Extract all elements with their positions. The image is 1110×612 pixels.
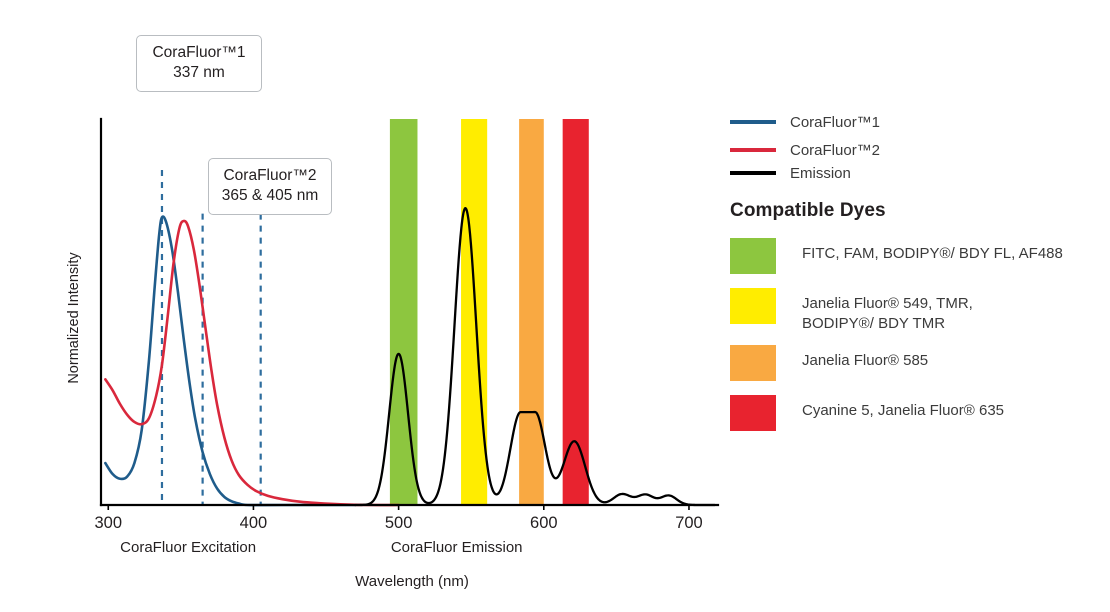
dye-item-red: Cyanine 5, Janelia Fluor® 635 xyxy=(730,395,1004,431)
dye-item-yellow: Janelia Fluor® 549, TMR, BODIPY®/ BDY TM… xyxy=(730,288,973,335)
axis-sub-label-0: CoraFluor Excitation xyxy=(120,539,256,556)
dye-label-red: Cyanine 5, Janelia Fluor® 635 xyxy=(802,395,1004,421)
dye-band-yellow-band xyxy=(461,119,487,505)
legend-line-swatch-corafluor1 xyxy=(730,120,776,124)
x-axis-title: Wavelength (nm) xyxy=(355,573,469,590)
legend-panel: CoraFluor™1 CoraFluor™2 Emission Compati… xyxy=(729,0,1110,612)
dye-band-orange-band xyxy=(519,119,544,505)
excitation-curve-CoraFluor1 xyxy=(105,217,355,506)
dye-label-green: FITC, FAM, BODIPY®/ BDY FL, AF488 xyxy=(802,238,1063,264)
legend-line-swatch-corafluor2 xyxy=(730,148,776,152)
axis-sub-label-1: CoraFluor Emission xyxy=(391,539,523,556)
legend-item-emission: Emission xyxy=(730,164,851,182)
dye-band-green-band xyxy=(390,119,418,505)
x-tick-label-600: 600 xyxy=(530,514,558,532)
dye-color-swatch-green xyxy=(730,238,776,274)
dye-label-orange: Janelia Fluor® 585 xyxy=(802,345,928,371)
corafluor1-callout-line2: 337 nm xyxy=(149,63,249,83)
dye-label-yellow-line1: Janelia Fluor® 549, TMR, xyxy=(802,295,973,312)
x-tick-label-700: 700 xyxy=(675,514,703,532)
dye-label-orange-line1: Janelia Fluor® 585 xyxy=(802,352,928,369)
legend-label-corafluor2: CoraFluor™2 xyxy=(790,142,880,159)
legend-item-corafluor1: CoraFluor™1 xyxy=(730,113,880,131)
dye-label-yellow: Janelia Fluor® 549, TMR, BODIPY®/ BDY TM… xyxy=(802,288,973,335)
spectra-chart-svg: 300400500600700CoraFluor ExcitationCoraF… xyxy=(0,0,730,612)
figure-root: 300400500600700CoraFluor ExcitationCoraF… xyxy=(0,0,1110,612)
corafluor2-callout-line1: CoraFluor™2 xyxy=(223,167,316,184)
corafluor2-callout-line2: 365 & 405 nm xyxy=(221,186,319,206)
dye-label-red-line1: Cyanine 5, Janelia Fluor® 635 xyxy=(802,402,1004,419)
legend-label-corafluor1: CoraFluor™1 xyxy=(790,114,880,131)
dye-bands-group xyxy=(390,119,589,505)
legend-line-swatch-emission xyxy=(730,171,776,175)
corafluor1-callout: CoraFluor™1 337 nm xyxy=(136,35,262,92)
dye-label-yellow-line2: BODIPY®/ BDY TMR xyxy=(802,314,973,334)
dye-item-green: FITC, FAM, BODIPY®/ BDY FL, AF488 xyxy=(730,238,1063,274)
excitation-marker-lines-group xyxy=(162,170,261,505)
legend-item-corafluor2: CoraFluor™2 xyxy=(730,141,880,159)
corafluor1-callout-line1: CoraFluor™1 xyxy=(152,44,245,61)
dye-color-swatch-orange xyxy=(730,345,776,381)
y-axis-title: Normalized Intensity xyxy=(66,252,82,384)
compatible-dyes-title: Compatible Dyes xyxy=(730,200,886,222)
dye-band-red-band xyxy=(563,119,589,505)
x-tick-label-500: 500 xyxy=(385,514,413,532)
dye-color-swatch-red xyxy=(730,395,776,431)
x-tick-label-400: 400 xyxy=(240,514,268,532)
dye-color-swatch-yellow xyxy=(730,288,776,324)
spectra-curves-group xyxy=(105,217,398,506)
corafluor2-callout: CoraFluor™2 365 & 405 nm xyxy=(208,158,332,215)
dye-item-orange: Janelia Fluor® 585 xyxy=(730,345,928,381)
legend-label-emission: Emission xyxy=(790,165,851,182)
x-tick-label-300: 300 xyxy=(94,514,122,532)
dye-label-green-line1: FITC, FAM, BODIPY®/ BDY FL, AF488 xyxy=(802,245,1063,262)
spectra-chart-panel: 300400500600700CoraFluor ExcitationCoraF… xyxy=(0,0,730,612)
